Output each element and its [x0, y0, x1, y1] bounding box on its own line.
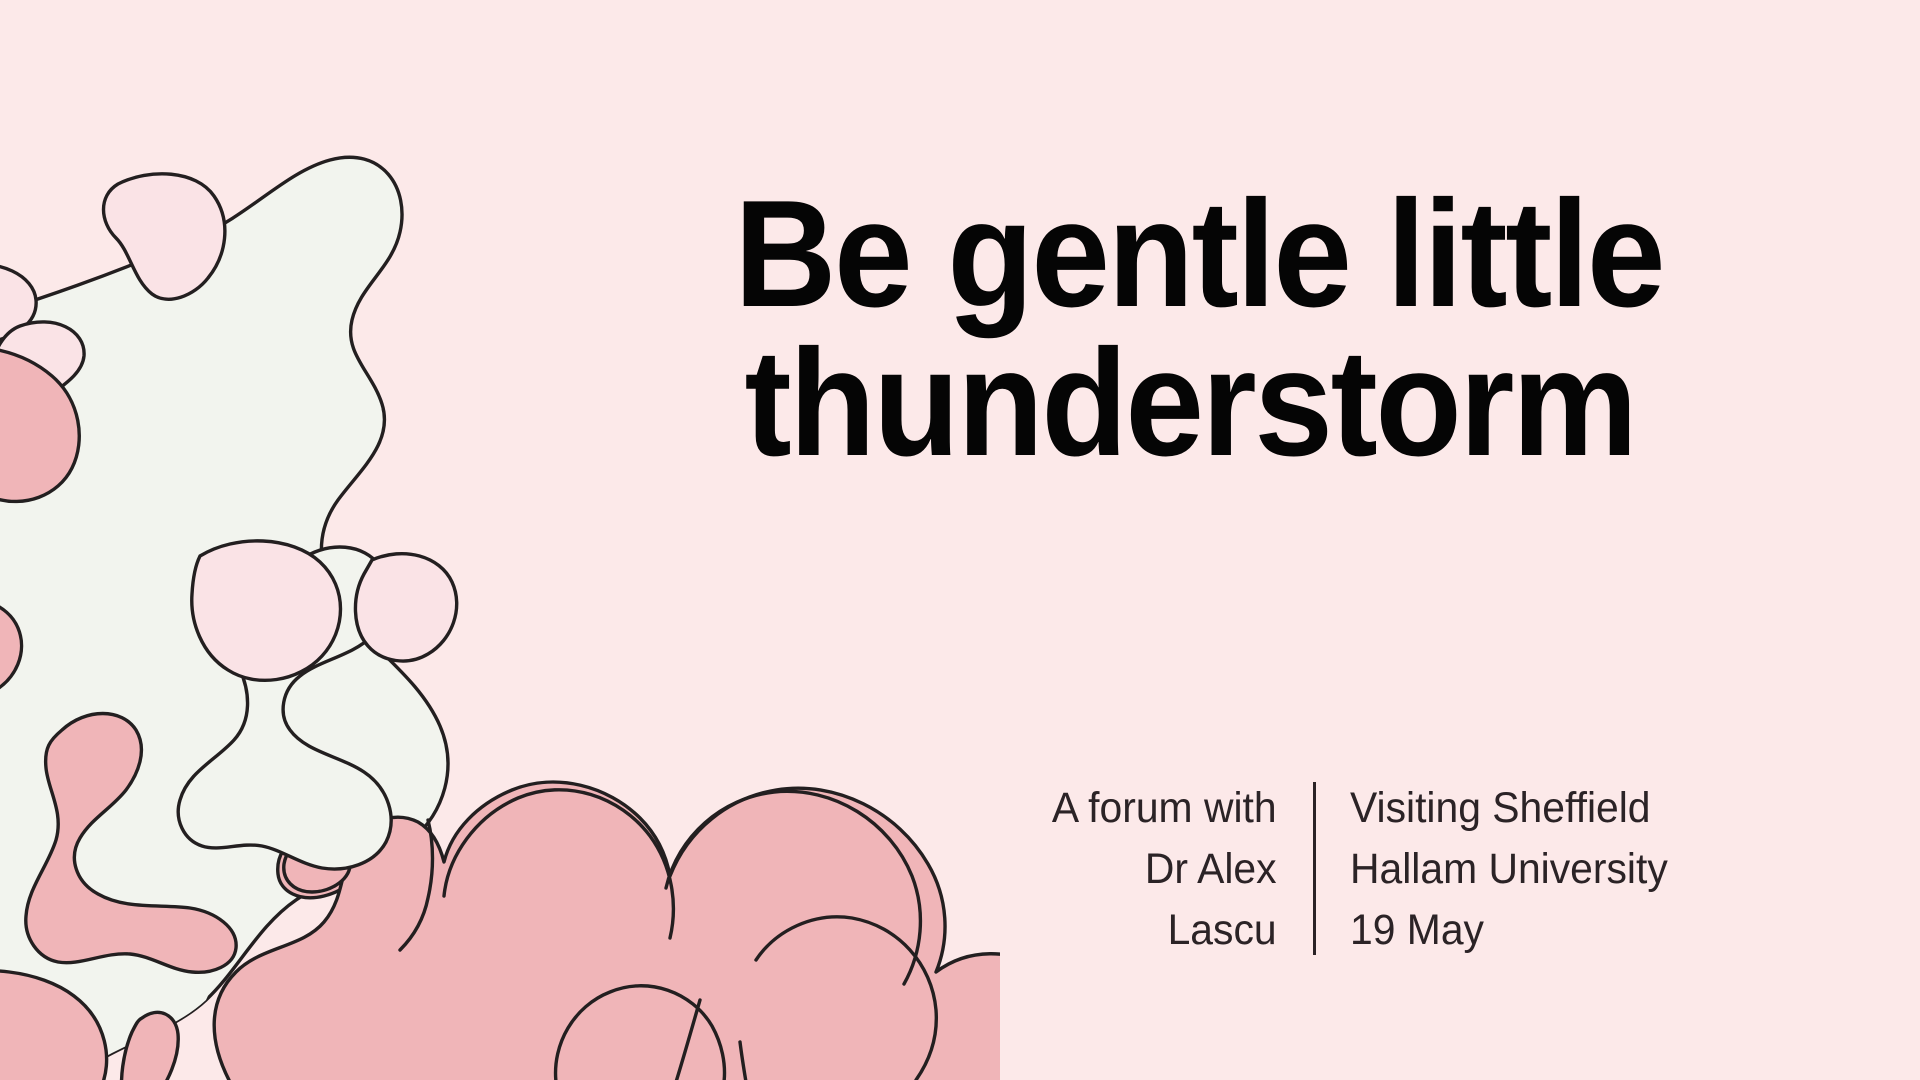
footer-right-line-2: Hallam University: [1350, 839, 1668, 900]
cream-blob-lower-extension: [0, 700, 240, 1080]
salmon-lens-shape: [278, 834, 363, 898]
cloud-lobe-right-dome: [666, 791, 920, 984]
salmon-mass-left-upper: [0, 598, 22, 699]
blush-hole-left-edge: [0, 264, 36, 342]
footer-right-column: Visiting Sheffield Hallam University 19 …: [1316, 778, 1685, 961]
blush-notch-upper-right: [192, 541, 341, 680]
slide-title: Be gentle little thunderstorm: [700, 180, 1680, 478]
salmon-teardrop: [122, 1012, 179, 1080]
salmon-pebble: [284, 843, 350, 892]
salmon-shape-mid-left: [26, 714, 236, 973]
footer-left-line-3: Lascu: [1052, 900, 1277, 961]
blush-tendril-right: [355, 554, 456, 661]
presentation-slide: Be gentle little thunderstorm A forum wi…: [0, 0, 1920, 1080]
cloud-lobe-lower-right: [756, 917, 936, 1080]
title-line-1: Be gentle little: [734, 180, 1645, 329]
salmon-mass-bottom-left: [0, 971, 107, 1080]
blush-hole-upper: [104, 174, 225, 299]
footer-left-line-2: Dr Alex: [1052, 839, 1277, 900]
footer-left-column: A forum with Dr Alex Lascu: [1040, 778, 1313, 961]
cream-blob-right-arm: [178, 547, 391, 869]
footer-right-line-3: 19 May: [1350, 900, 1668, 961]
blush-hole-mid-left: [0, 322, 84, 416]
cloud-crease-left: [676, 1000, 700, 1080]
salmon-shape-upper-left: [0, 347, 79, 501]
title-line-2: thunderstorm: [734, 329, 1645, 478]
cloud-lobe-center-dome: [444, 790, 673, 938]
footer-left-line-1: A forum with: [1052, 778, 1277, 839]
cloud-base-mass: [214, 782, 1000, 1080]
slide-footer: A forum with Dr Alex Lascu Visiting Shef…: [1040, 778, 1684, 961]
abstract-cloud-blob-illustration: [0, 0, 1000, 1080]
cloud-lobe-bottom-center: [556, 986, 725, 1080]
cream-blob-shape: [0, 157, 448, 1080]
footer-right-line-1: Visiting Sheffield: [1350, 778, 1668, 839]
cloud-crease-right: [740, 1042, 746, 1080]
cloud-lobe-left-spike: [400, 820, 433, 950]
